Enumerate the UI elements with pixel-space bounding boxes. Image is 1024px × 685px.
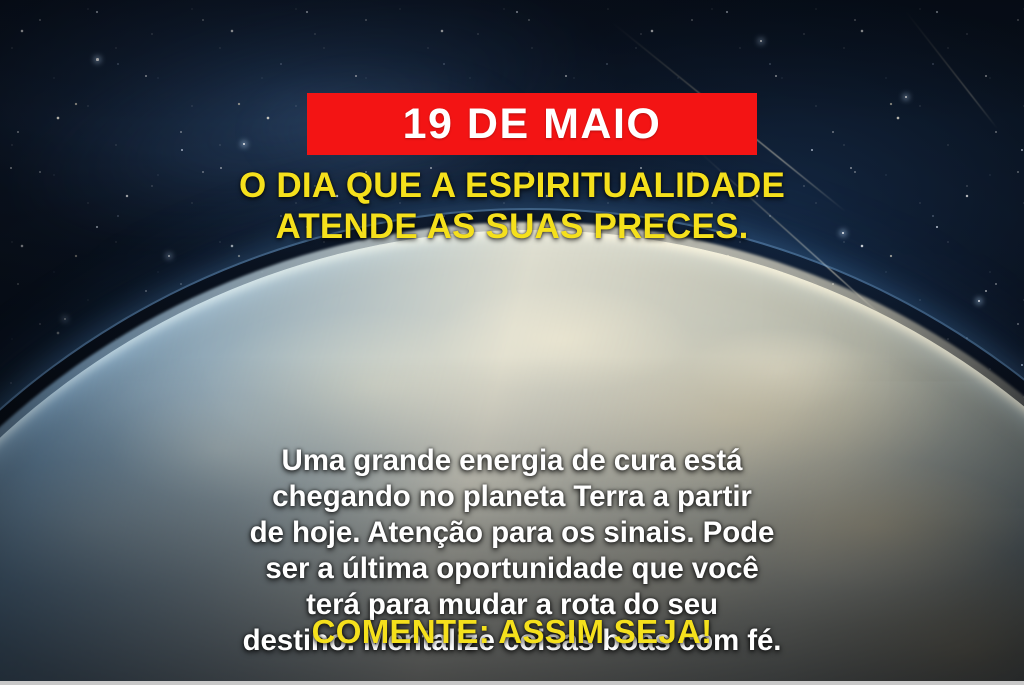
headline-line-1: O DIA QUE A ESPIRITUALIDADE [239,166,785,205]
call-to-action: COMENTE: ASSIM SEJA! [0,613,1024,651]
body-line-1: Uma grande energia de cura está [52,443,972,479]
date-banner: 19 DE MAIO [307,93,757,155]
body-line-3: de hoje. Atenção para os sinais. Pode [52,515,972,551]
headline: O DIA QUE A ESPIRITUALIDADE ATENDE AS SU… [0,166,1024,248]
poster-content: 19 DE MAIO O DIA QUE A ESPIRITUALIDADE A… [0,0,1024,685]
body-line-4: ser a última oportunidade que você [52,551,972,587]
poster-canvas: 19 DE MAIO O DIA QUE A ESPIRITUALIDADE A… [0,0,1024,685]
headline-line-2: ATENDE AS SUAS PRECES. [44,207,980,248]
body-line-2: chegando no planeta Terra a partir [52,479,972,515]
bottom-edge-bar [0,681,1024,685]
date-banner-label: 19 DE MAIO [403,103,662,146]
